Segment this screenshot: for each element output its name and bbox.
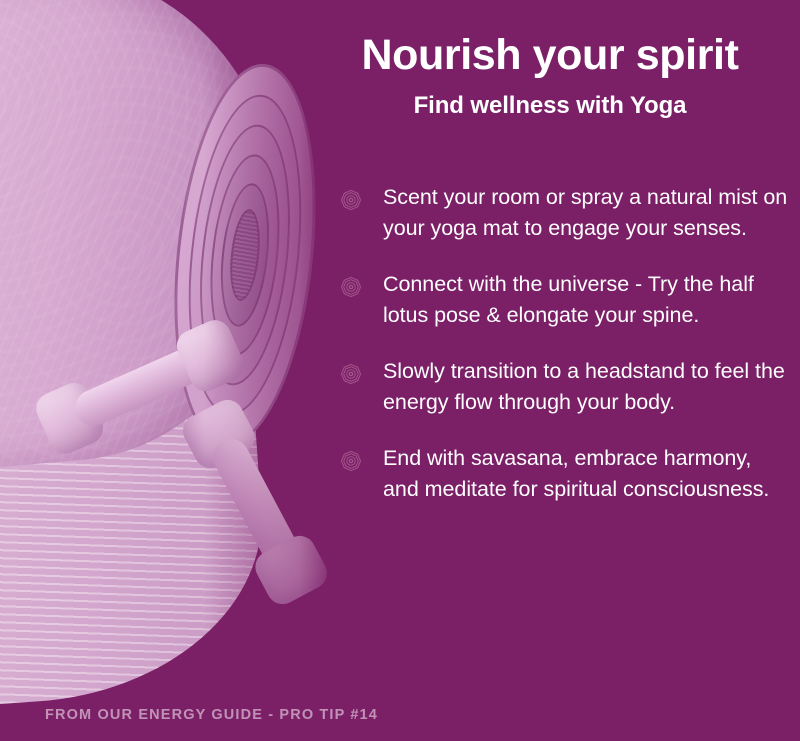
background-photo xyxy=(0,0,340,741)
mandala-icon xyxy=(340,276,362,298)
list-item-text: Slowly transition to a headstand to feel… xyxy=(383,356,792,417)
list-item: End with savasana, embrace harmony, and … xyxy=(340,443,792,504)
poster-subtitle: Find wellness with Yoga xyxy=(340,92,760,120)
poster-footer: FROM OUR ENERGY GUIDE - PRO TIP #14 xyxy=(45,707,378,723)
wellness-poster: Nourish your spirit Find wellness with Y… xyxy=(0,0,800,741)
list-item: Scent your room or spray a natural mist … xyxy=(340,182,792,243)
poster-title: Nourish your spirit xyxy=(340,33,760,78)
mandala-icon xyxy=(340,450,362,472)
list-item-text: Scent your room or spray a natural mist … xyxy=(383,182,792,243)
list-item: Slowly transition to a headstand to feel… xyxy=(340,356,792,417)
list-item: Connect with the universe - Try the half… xyxy=(340,269,792,330)
mandala-icon xyxy=(340,363,362,385)
list-item-text: Connect with the universe - Try the half… xyxy=(383,269,792,330)
mandala-icon xyxy=(340,189,362,211)
content-column: Nourish your spirit Find wellness with Y… xyxy=(340,0,800,741)
list-item-text: End with savasana, embrace harmony, and … xyxy=(383,443,792,504)
tips-list: Scent your room or spray a natural mist … xyxy=(340,182,792,504)
